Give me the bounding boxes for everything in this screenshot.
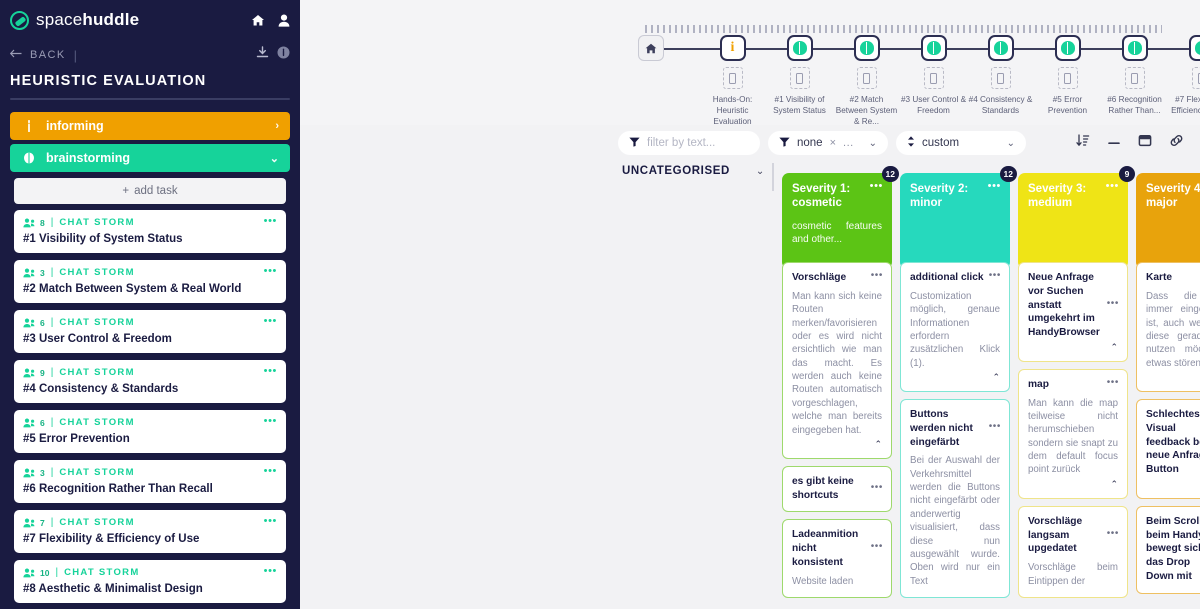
timeline-home-button[interactable]: [638, 35, 664, 61]
task-item[interactable]: 6 | CHAT STORM ••• #5 Error Prevention: [14, 410, 286, 453]
timeline-node-6[interactable]: #6 Recognition Rather Than...: [1101, 30, 1168, 116]
meta-divider: |: [51, 417, 54, 428]
idea-body: Vorschläge beim Eintippen der: [1028, 561, 1118, 588]
task-item[interactable]: 6 | CHAT STORM ••• #3 User Control & Fre…: [14, 310, 286, 353]
category-count-badge: 12: [1000, 166, 1017, 182]
sort-select[interactable]: custom ⌄: [896, 131, 1026, 155]
task-menu-icon[interactable]: •••: [264, 266, 277, 277]
task-menu-icon[interactable]: •••: [264, 516, 277, 527]
idea-title: Vorschläge: [792, 271, 882, 285]
task-menu-icon[interactable]: •••: [264, 466, 277, 477]
back-divider: |: [74, 48, 77, 63]
task-item[interactable]: 10 | CHAT STORM ••• #8 Aesthetic & Minim…: [14, 560, 286, 603]
timeline-node-4[interactable]: #4 Consistency & Standards: [967, 30, 1034, 116]
idea-title: additional click: [910, 271, 1000, 285]
participants-icon: [23, 318, 36, 328]
task-type: CHAT STORM: [59, 467, 134, 478]
category-column: 9 ••• Severity 3: medium: [1018, 173, 1128, 269]
timeline-node-label: #4 Consistency & Standards: [968, 94, 1034, 116]
task-participant-count: 8: [40, 218, 45, 228]
task-item[interactable]: 9 | CHAT STORM ••• #4 Consistency & Stan…: [14, 360, 286, 403]
board-columns: ••• Vorschläge Man kann sich keine Route…: [782, 262, 1200, 607]
idea-card[interactable]: ••• Ladeanmition nicht konsistent Websit…: [782, 519, 892, 598]
page-title: HEURISTIC EVALUATION: [0, 64, 300, 98]
task-title: #1 Visibility of System Status: [23, 233, 277, 245]
task-title: #6 Recognition Rather Than Recall: [23, 483, 277, 495]
idea-title: Neue Anfrage vor Suchen anstatt umgekehr…: [1028, 271, 1118, 340]
brain-icon: [1189, 35, 1200, 61]
task-participant-count: 9: [40, 368, 45, 378]
task-meta: 8 | CHAT STORM: [23, 217, 277, 228]
idea-title: Schlechtes Visual feedback beim neue Anf…: [1146, 408, 1200, 477]
sidebar: spacehuddle BACK | HEURISTIC EVALUATION: [0, 0, 300, 609]
timeline-node-5[interactable]: #5 Error Prevention: [1034, 30, 1101, 116]
device-icon: [924, 67, 944, 89]
brain-icon: [21, 152, 37, 164]
idea-title: Ladeanmition nicht konsistent: [792, 528, 882, 569]
timeline-items: i Hands-On: Heuristic Evaluation #1 Visi…: [638, 30, 1200, 127]
participants-icon: [23, 568, 36, 578]
participants-icon: [23, 518, 36, 528]
idea-card[interactable]: ••• additional click Customization mögli…: [900, 262, 1010, 392]
meta-divider: |: [51, 317, 54, 328]
collapse-caret-icon[interactable]: ⌃: [1028, 343, 1118, 352]
board-header: UNCATEGORISED ⌄ 12 ••• Severity 1: cosme…: [300, 161, 1200, 273]
arrow-left-icon: [10, 49, 23, 61]
participants-icon: [23, 368, 36, 378]
timeline-node-label: #6 Recognition Rather Than...: [1102, 94, 1168, 116]
device-icon: [723, 67, 743, 89]
category-card-severity-4[interactable]: 11 ••• Severity 4: major: [1136, 173, 1200, 269]
timeline-node-label: #5 Error Prevention: [1035, 94, 1101, 116]
idea-card[interactable]: ••• Vorschläge langsam upgedatet Vorschl…: [1018, 506, 1128, 598]
uncategorised-group-toggle[interactable]: UNCATEGORISED ⌄: [622, 165, 765, 177]
idea-card[interactable]: ••• Buttons werden nicht eingefärbt Bei …: [900, 399, 1010, 598]
text-filter[interactable]: filter by text...: [618, 131, 760, 155]
idea-body: Bei der Auswahl der Verkehrsmittel werde…: [910, 454, 1000, 588]
task-meta: 7 | CHAT STORM: [23, 517, 277, 528]
idea-body: Dass die Karte immer eingeblendet ist, a…: [1146, 290, 1200, 370]
task-meta: 3 | CHAT STORM: [23, 467, 277, 478]
brain-icon: [1055, 35, 1081, 61]
timeline-node-label: #1 Visibility of System Status: [767, 94, 833, 116]
task-meta: 9 | CHAT STORM: [23, 367, 277, 378]
collapse-caret-icon[interactable]: ⌃: [792, 440, 882, 449]
timeline-node-1[interactable]: #1 Visibility of System Status: [766, 30, 833, 116]
task-participant-count: 3: [40, 268, 45, 278]
idea-body: Man kann die map teilweise nicht herumsc…: [1028, 397, 1118, 477]
chevron-down-icon[interactable]: ⌄: [756, 166, 765, 177]
timeline-node-3[interactable]: #3 User Control & Freedom: [900, 30, 967, 116]
category-card-severity-2[interactable]: 12 ••• Severity 2: minor: [900, 173, 1010, 269]
collapse-caret-icon[interactable]: ⌃: [1146, 480, 1200, 489]
task-title: #2 Match Between System & Real World: [23, 283, 277, 295]
back-label: BACK: [30, 49, 66, 61]
brain-icon: [1122, 35, 1148, 61]
category-column: 12 ••• Severity 2: minor: [900, 173, 1010, 269]
card-stack-severity-1: ••• Vorschläge Man kann sich keine Route…: [782, 262, 892, 607]
info-icon: [21, 120, 37, 132]
idea-menu-icon[interactable]: •••: [989, 271, 1001, 281]
card-stack-severity-4: ••• Karte Dass die Karte immer eingeblen…: [1136, 262, 1200, 607]
meta-divider: |: [51, 367, 54, 378]
task-item[interactable]: 7 | CHAT STORM ••• #7 Flexibility & Effi…: [14, 510, 286, 553]
info-icon[interactable]: [277, 46, 290, 64]
download-icon[interactable]: [256, 46, 269, 64]
idea-menu-icon[interactable]: •••: [1107, 529, 1119, 539]
category-column: 11 ••• Severity 4: major: [1136, 173, 1200, 269]
more-icon[interactable]: ...: [843, 137, 854, 149]
idea-title: map: [1028, 378, 1118, 392]
collapse-caret-icon[interactable]: ⌃: [1028, 480, 1118, 489]
sort-updown-icon: [907, 136, 915, 150]
task-title: #5 Error Prevention: [23, 433, 277, 445]
link-icon[interactable]: [1169, 134, 1184, 152]
home-icon[interactable]: [251, 14, 265, 27]
category-count-badge: 12: [882, 166, 899, 182]
filter-icon: [629, 137, 640, 150]
timeline-node-label: #3 User Control & Freedom: [901, 94, 967, 116]
task-participant-count: 7: [40, 518, 45, 528]
device-icon: [1192, 67, 1200, 89]
task-item[interactable]: 3 | CHAT STORM ••• #6 Recognition Rather…: [14, 460, 286, 503]
brain-icon: [921, 35, 947, 61]
back-button[interactable]: BACK: [10, 49, 66, 61]
category-count-badge: 9: [1119, 166, 1135, 182]
idea-card[interactable]: ••• Vorschläge Man kann sich keine Route…: [782, 262, 892, 459]
task-meta: 10 | CHAT STORM: [23, 567, 277, 578]
timeline-node-label: #7 Flexibility & Efficiency of Use: [1169, 94, 1200, 116]
card-stack-severity-3: ••• Neue Anfrage vor Suchen anstatt umge…: [1018, 262, 1128, 607]
app-root: spacehuddle BACK | HEURISTIC EVALUATION: [0, 0, 1200, 609]
category-card-severity-3[interactable]: 9 ••• Severity 3: medium: [1018, 173, 1128, 269]
idea-menu-icon[interactable]: •••: [871, 271, 883, 281]
task-meta: 6 | CHAT STORM: [23, 417, 277, 428]
task-meta: 3 | CHAT STORM: [23, 267, 277, 278]
idea-body: Customization möglich, genaue Informatio…: [910, 290, 1000, 370]
minimize-icon[interactable]: [1107, 134, 1121, 152]
add-task-button[interactable]: + add task: [14, 178, 286, 204]
board-toolbar: filter by text... none × ... ⌄ custom ⌄: [300, 125, 1200, 161]
timeline-node-label: Hands-On: Heuristic Evaluation: [700, 94, 766, 127]
window-icon[interactable]: [1138, 134, 1152, 152]
task-participant-count: 6: [40, 418, 45, 428]
brand-part1: space: [36, 10, 82, 29]
device-icon: [991, 67, 1011, 89]
task-menu-icon[interactable]: •••: [264, 416, 277, 427]
phase-label: brainstorming: [46, 151, 270, 165]
meta-divider: |: [55, 567, 58, 578]
meta-divider: |: [51, 267, 54, 278]
chevron-right-icon: ›: [275, 120, 279, 132]
idea-card[interactable]: ••• Schlechtes Visual feedback beim neue…: [1136, 399, 1200, 499]
task-menu-icon[interactable]: •••: [264, 366, 277, 377]
idea-menu-icon[interactable]: •••: [871, 483, 883, 493]
idea-title: Buttons werden nicht eingefärbt: [910, 408, 1000, 449]
board-divider: [772, 163, 774, 191]
clear-icon[interactable]: ×: [830, 137, 836, 149]
chevron-down-icon[interactable]: ⌄: [869, 138, 877, 149]
phase-label: informing: [46, 119, 275, 133]
sort-az-icon[interactable]: [1076, 134, 1090, 152]
text-filter-placeholder: filter by text...: [647, 137, 715, 149]
meta-divider: |: [51, 517, 54, 528]
idea-menu-icon[interactable]: •••: [871, 542, 883, 552]
task-list: 8 | CHAT STORM ••• #1 Visibility of Syst…: [0, 210, 300, 609]
task-item[interactable]: 3 | CHAT STORM ••• #2 Match Between Syst…: [14, 260, 286, 303]
plus-icon: +: [122, 185, 129, 197]
category-menu-icon[interactable]: •••: [988, 181, 1001, 192]
back-row: BACK |: [0, 46, 300, 64]
collapse-caret-icon[interactable]: ⌃: [910, 373, 1000, 382]
session-timeline: i Hands-On: Heuristic Evaluation #1 Visi…: [300, 0, 1200, 125]
state-filter[interactable]: none × ... ⌄: [768, 131, 888, 155]
chevron-down-icon: ⌄: [270, 152, 279, 165]
brain-icon: [854, 35, 880, 61]
idea-title: es gibt keine shortcuts: [792, 475, 882, 503]
task-type: CHAT STORM: [64, 567, 139, 578]
meta-divider: |: [51, 217, 54, 228]
sidebar-header: spacehuddle: [0, 0, 300, 30]
timeline-node-7[interactable]: #7 Flexibility & Efficiency of Use: [1168, 30, 1200, 116]
device-icon: [1125, 67, 1145, 89]
toolbar-right-icons: [1076, 134, 1200, 152]
task-item[interactable]: 8 | CHAT STORM ••• #1 Visibility of Syst…: [14, 210, 286, 253]
participants-icon: [23, 218, 36, 228]
filter-icon: [779, 137, 790, 150]
participants-icon: [23, 268, 36, 278]
idea-card[interactable]: ••• Beim Scrollen beim Handy bewegt sich…: [1136, 506, 1200, 594]
task-participant-count: 6: [40, 318, 45, 328]
idea-title: Beim Scrollen beim Handy bewegt sich das…: [1146, 515, 1200, 584]
card-stack-severity-2: ••• additional click Customization mögli…: [900, 262, 1010, 607]
idea-title: Vorschläge langsam upgedatet: [1028, 515, 1118, 556]
timeline-node-2[interactable]: #2 Match Between System & Re...: [833, 30, 900, 127]
task-type: CHAT STORM: [59, 367, 134, 378]
task-type: CHAT STORM: [59, 217, 134, 228]
brand-logo[interactable]: spacehuddle: [10, 10, 251, 30]
task-participant-count: 10: [40, 568, 49, 578]
sidebar-top-icons: [251, 14, 290, 27]
idea-menu-icon[interactable]: •••: [1107, 378, 1119, 388]
collapse-caret-icon[interactable]: ⌃: [1146, 373, 1200, 382]
category-menu-icon[interactable]: •••: [1106, 181, 1119, 192]
idea-menu-icon[interactable]: •••: [1107, 299, 1119, 309]
task-title: #4 Consistency & Standards: [23, 383, 277, 395]
task-menu-icon[interactable]: •••: [264, 316, 277, 327]
meta-divider: |: [51, 467, 54, 478]
category-title: Severity 3: medium: [1028, 182, 1118, 211]
sort-value: custom: [922, 137, 959, 149]
idea-menu-icon[interactable]: •••: [989, 422, 1001, 432]
brain-icon: [988, 35, 1014, 61]
task-menu-icon[interactable]: •••: [264, 566, 277, 577]
idea-card[interactable]: ••• map Man kann die map teilweise nicht…: [1018, 369, 1128, 499]
idea-card[interactable]: ••• Karte Dass die Karte immer eingeblen…: [1136, 262, 1200, 392]
category-title: Severity 1: cosmetic: [792, 182, 882, 211]
timeline-node-0[interactable]: i Hands-On: Heuristic Evaluation: [699, 30, 766, 127]
task-title: #3 User Control & Freedom: [23, 333, 277, 345]
task-type: CHAT STORM: [59, 417, 134, 428]
device-icon: [1058, 67, 1078, 89]
uncategorised-label: UNCATEGORISED: [622, 165, 730, 177]
participants-icon: [23, 468, 36, 478]
task-participant-count: 3: [40, 468, 45, 478]
main-area: i Hands-On: Heuristic Evaluation #1 Visi…: [300, 0, 1200, 609]
category-title: Severity 2: minor: [910, 182, 1000, 211]
device-icon: [857, 67, 877, 89]
category-description: cosmetic features and other...: [792, 220, 882, 247]
category-menu-icon[interactable]: •••: [870, 181, 883, 192]
task-type: CHAT STORM: [59, 517, 134, 528]
spacehuddle-logo-icon: [10, 11, 29, 30]
participants-icon: [23, 418, 36, 428]
idea-title: Karte: [1146, 271, 1200, 285]
idea-body: Man kann sich keine Routen merken/favori…: [792, 290, 882, 437]
task-menu-icon[interactable]: •••: [264, 216, 277, 227]
idea-card[interactable]: ••• Neue Anfrage vor Suchen anstatt umge…: [1018, 262, 1128, 362]
back-action-icons: [256, 46, 290, 64]
timeline-node-label: #2 Match Between System & Re...: [834, 94, 900, 127]
task-title: #7 Flexibility & Efficiency of Use: [23, 533, 277, 545]
user-icon[interactable]: [278, 14, 290, 27]
chevron-down-icon[interactable]: ⌄: [1007, 138, 1015, 149]
info-icon: i: [720, 35, 746, 61]
task-meta: 6 | CHAT STORM: [23, 317, 277, 328]
idea-card[interactable]: ••• es gibt keine shortcuts: [782, 466, 892, 513]
task-title: #8 Aesthetic & Minimalist Design: [23, 583, 277, 595]
category-title: Severity 4: major: [1146, 182, 1200, 211]
task-type: CHAT STORM: [59, 317, 134, 328]
state-filter-value: none: [797, 137, 823, 149]
device-icon: [790, 67, 810, 89]
phase-brainstorming[interactable]: brainstorming ⌄: [10, 144, 290, 172]
add-task-label: add task: [134, 185, 177, 197]
category-card-severity-1[interactable]: 12 ••• Severity 1: cosmetic cosmetic fea…: [782, 173, 892, 269]
category-header-row: 12 ••• Severity 1: cosmetic cosmetic fea…: [782, 173, 1200, 269]
brand-text: spacehuddle: [36, 10, 139, 30]
title-divider: [10, 98, 290, 100]
idea-body: Website laden: [792, 575, 882, 588]
category-column: 12 ••• Severity 1: cosmetic cosmetic fea…: [782, 173, 892, 269]
brand-part2: huddle: [82, 10, 139, 29]
brain-icon: [787, 35, 813, 61]
phase-informing[interactable]: informing ›: [10, 112, 290, 140]
task-type: CHAT STORM: [59, 267, 134, 278]
